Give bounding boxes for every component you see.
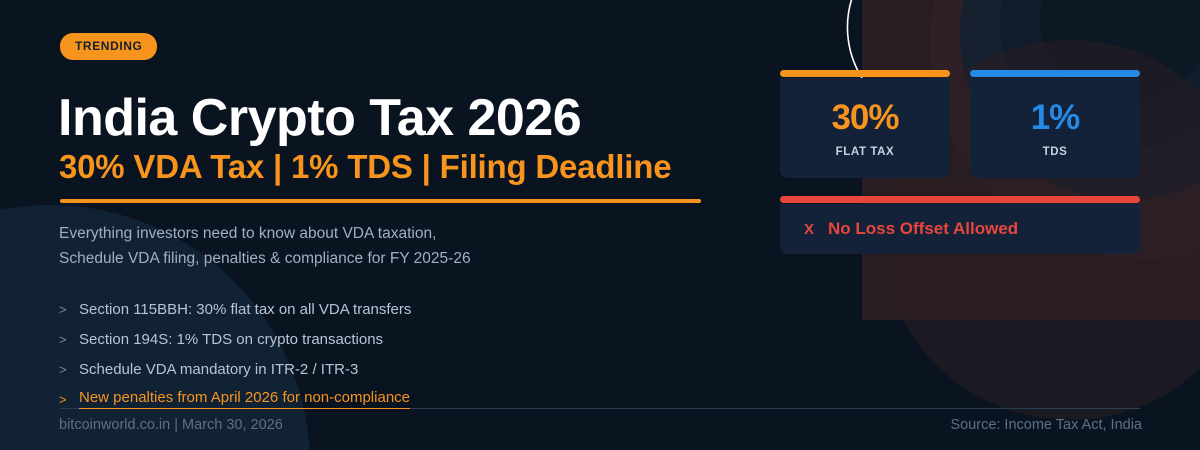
bullet-list: > Section 115BBH: 30% flat tax on all VD… <box>59 294 411 414</box>
chevron-right-icon: > <box>59 302 79 317</box>
cross-icon: X <box>804 221 814 238</box>
trending-badge: TRENDING <box>60 33 157 60</box>
title-underline-rule <box>60 199 701 203</box>
list-item: > Schedule VDA mandatory in ITR-2 / ITR-… <box>59 354 411 384</box>
chevron-right-icon: > <box>59 362 79 377</box>
stat-label: FLAT TAX <box>780 146 950 158</box>
description-block: Everything investors need to know about … <box>59 221 471 271</box>
description-line-1: Everything investors need to know about … <box>59 221 471 246</box>
alert-label: No Loss Offset Allowed <box>828 219 1018 239</box>
stat-card-flat-tax: 30% FLAT TAX <box>780 78 950 178</box>
stat-card-accent-bar <box>970 70 1140 77</box>
list-item-label: Schedule VDA mandatory in ITR-2 / ITR-3 <box>79 361 358 378</box>
right-stats-column: 30% FLAT TAX 1% TDS X No Loss Offset All… <box>760 0 1200 450</box>
stat-card-tds: 1% TDS <box>970 78 1140 178</box>
list-item: > Section 194S: 1% TDS on crypto transac… <box>59 324 411 354</box>
alert-banner-no-loss-offset: X No Loss Offset Allowed <box>780 204 1140 254</box>
description-line-2: Schedule VDA filing, penalties & complia… <box>59 246 471 271</box>
chevron-right-icon: > <box>59 392 79 407</box>
list-item-highlighted: > New penalties from April 2026 for non-… <box>59 384 411 414</box>
page-subtitle: 30% VDA Tax | 1% TDS | Filing Deadline <box>59 150 671 185</box>
left-content-column: TRENDING India Crypto Tax 2026 30% VDA T… <box>0 0 760 450</box>
stat-value: 1% <box>970 98 1140 138</box>
list-item-label: Section 194S: 1% TDS on crypto transacti… <box>79 331 383 348</box>
alert-content: X No Loss Offset Allowed <box>780 204 1140 254</box>
list-item: > Section 115BBH: 30% flat tax on all VD… <box>59 294 411 324</box>
stat-label: TDS <box>970 146 1140 158</box>
page-title: India Crypto Tax 2026 <box>58 92 581 145</box>
stat-value: 30% <box>780 98 950 138</box>
list-item-label: New penalties from April 2026 for non-co… <box>79 389 410 409</box>
chevron-right-icon: > <box>59 332 79 347</box>
list-item-label: Section 115BBH: 30% flat tax on all VDA … <box>79 301 411 318</box>
stat-card-accent-bar <box>780 70 950 77</box>
alert-accent-bar <box>780 196 1140 203</box>
